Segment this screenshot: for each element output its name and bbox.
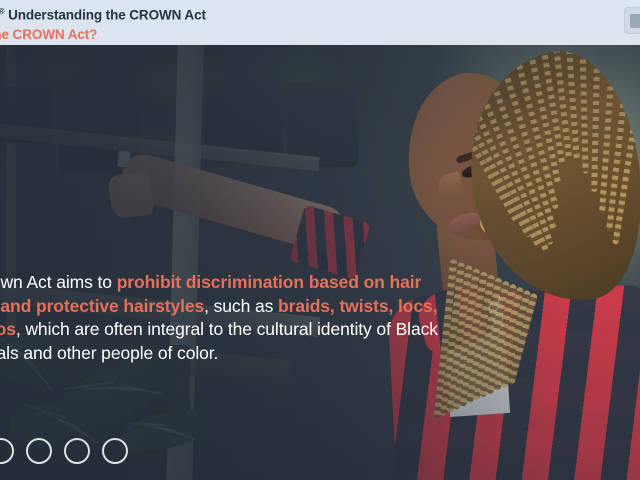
slide-dot-3[interactable] xyxy=(64,438,90,464)
window-control-icon xyxy=(630,14,640,28)
slide-dot-2[interactable] xyxy=(26,438,52,464)
header-bar: HR Briefs® Understanding the CROWN Act W… xyxy=(0,0,640,45)
slide-viewer: HR Briefs® Understanding the CROWN Act W… xyxy=(0,0,640,480)
carousel-dots xyxy=(0,438,128,464)
header-text-group: HR Briefs® Understanding the CROWN Act W… xyxy=(0,3,538,44)
page-title: HR Briefs® Understanding the CROWN Act xyxy=(0,3,538,25)
photo-vertical-overlay xyxy=(0,45,640,480)
slide-dot-4[interactable] xyxy=(102,438,128,464)
slide-photo xyxy=(0,45,640,480)
page-title-suffix: Understanding the CROWN Act xyxy=(4,8,205,23)
slide-content: The Crown Act aims to prohibit discrimin… xyxy=(0,45,640,480)
slide-caption: The Crown Act aims to prohibit discrimin… xyxy=(0,271,458,365)
slide-dot-1[interactable] xyxy=(0,438,14,464)
caption-text: The Crown Act aims to xyxy=(0,272,117,292)
caption-text: , such as xyxy=(204,296,278,316)
window-control-button[interactable] xyxy=(624,7,640,34)
caption-text: , which are often integral to the cultur… xyxy=(0,319,438,363)
page-subtitle: What is the CROWN Act? xyxy=(0,26,538,44)
